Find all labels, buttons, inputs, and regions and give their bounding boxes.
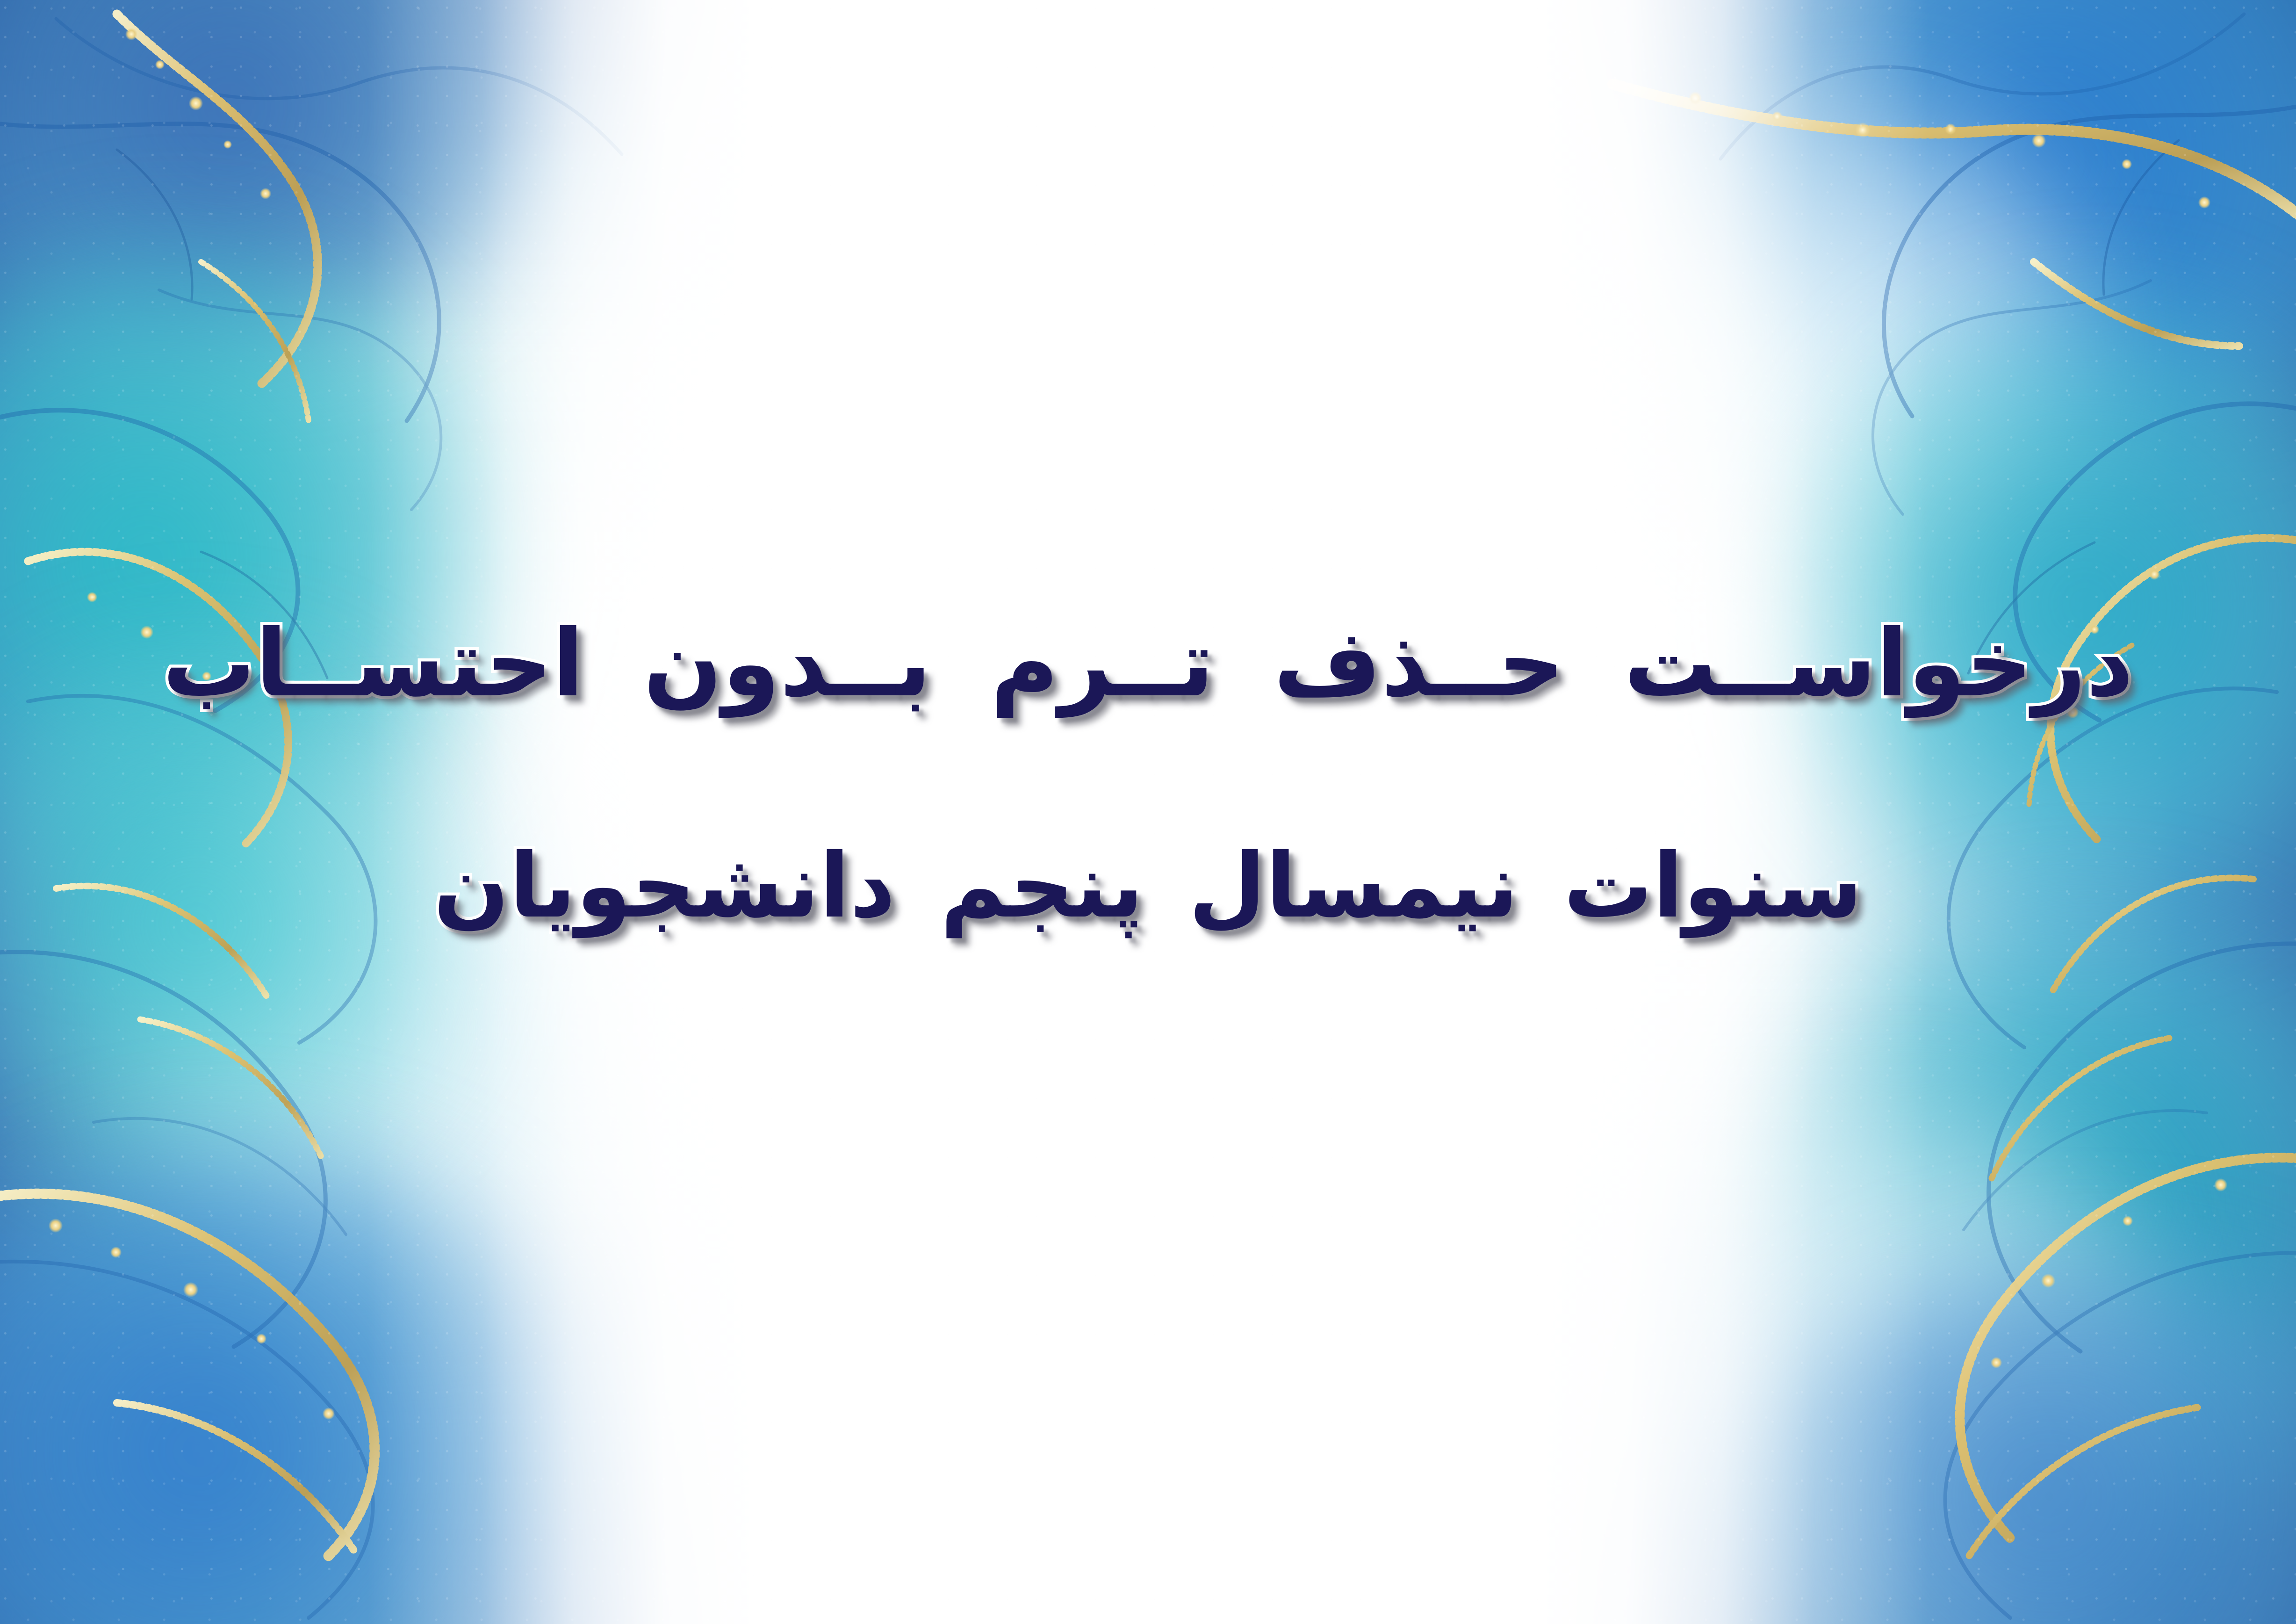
title-line-2: سنوات نیمسال پنجم دانشجویان [0,841,2296,931]
presentation-slide: درخواســت حــذف تــرم بــدون احتســاب سن… [0,0,2296,1624]
slide-title: درخواســت حــذف تــرم بــدون احتســاب سن… [0,616,2296,931]
title-line-1: درخواســت حــذف تــرم بــدون احتســاب [0,616,2296,711]
